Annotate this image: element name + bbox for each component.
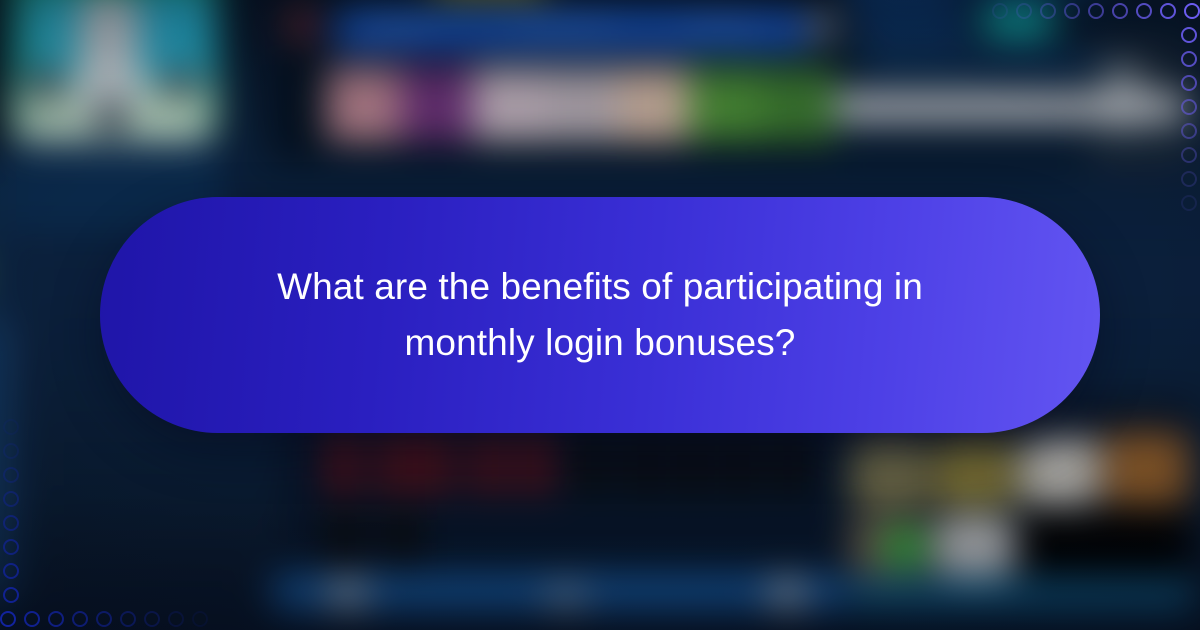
decorative-circle-icon bbox=[1181, 75, 1197, 91]
decorative-circle-icon bbox=[72, 611, 88, 627]
decorative-circle-icon bbox=[1160, 3, 1176, 19]
decorative-dots-top-right bbox=[992, 0, 1200, 208]
decorative-dots-bottom-left bbox=[0, 422, 208, 630]
decorative-circle-icon bbox=[120, 611, 136, 627]
decorative-circle-icon bbox=[1040, 3, 1056, 19]
decorative-circle-icon bbox=[3, 515, 19, 531]
decorative-circle-icon bbox=[992, 3, 1008, 19]
question-text: What are the benefits of participating i… bbox=[250, 259, 950, 371]
decorative-circle-icon bbox=[1088, 3, 1104, 19]
decorative-circle-icon bbox=[3, 539, 19, 555]
decorative-circle-icon bbox=[1181, 195, 1197, 211]
decorative-circle-icon bbox=[1016, 3, 1032, 19]
decorative-circle-icon bbox=[3, 587, 19, 603]
decorative-circle-icon bbox=[1181, 99, 1197, 115]
decorative-circle-icon bbox=[192, 611, 208, 627]
decorative-circle-icon bbox=[3, 491, 19, 507]
decorative-circle-icon bbox=[1181, 51, 1197, 67]
decorative-circle-icon bbox=[1181, 123, 1197, 139]
decorative-circle-icon bbox=[3, 563, 19, 579]
decorative-circle-icon bbox=[3, 419, 19, 435]
decorative-circle-icon bbox=[1184, 3, 1200, 19]
decorative-circle-icon bbox=[144, 611, 160, 627]
decorative-circle-icon bbox=[96, 611, 112, 627]
decorative-circle-icon bbox=[1181, 27, 1197, 43]
screenshot-canvas: What are the benefits of participating i… bbox=[0, 0, 1200, 630]
decorative-circle-icon bbox=[1112, 3, 1128, 19]
decorative-circle-icon bbox=[3, 467, 19, 483]
question-card: What are the benefits of participating i… bbox=[100, 197, 1100, 433]
decorative-circle-icon bbox=[168, 611, 184, 627]
decorative-circle-icon bbox=[1181, 147, 1197, 163]
decorative-circle-icon bbox=[1064, 3, 1080, 19]
decorative-circle-icon bbox=[1136, 3, 1152, 19]
decorative-circle-icon bbox=[3, 443, 19, 459]
decorative-circle-icon bbox=[1181, 171, 1197, 187]
decorative-circle-icon bbox=[0, 611, 16, 627]
decorative-circle-icon bbox=[24, 611, 40, 627]
decorative-circle-icon bbox=[48, 611, 64, 627]
